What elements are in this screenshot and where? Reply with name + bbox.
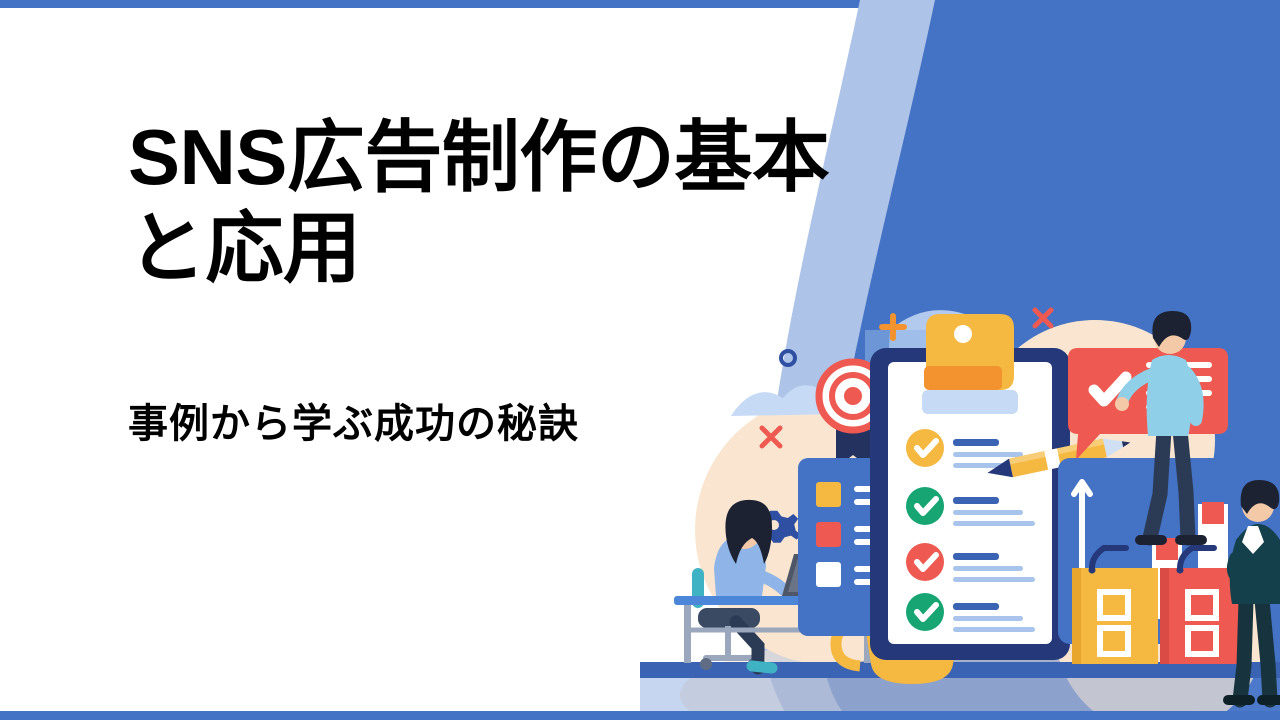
- check-circle-4: [906, 593, 944, 631]
- swatch-white: [816, 562, 841, 587]
- title-block: SNS広告制作の基本 と応用: [128, 112, 1008, 295]
- check-circle-1: [906, 429, 944, 467]
- circle-doodle: [781, 351, 795, 365]
- floor-strip: [640, 662, 1280, 678]
- check-circle-3: [906, 543, 944, 581]
- hero-illustration: [640, 300, 1280, 712]
- floor-shadow: [640, 678, 1280, 712]
- swatch-yellow: [816, 482, 841, 507]
- check-circle-2: [906, 487, 944, 525]
- slide-canvas: SNS広告制作の基本 と応用 事例から学ぶ成功の秘訣: [0, 0, 1280, 720]
- bottom-accent-bar: [0, 711, 1280, 720]
- page-subtitle: 事例から学ぶ成功の秘訣: [128, 398, 579, 450]
- clipboard-clip-shadow: [922, 390, 1018, 414]
- cross-doodle: [1035, 310, 1051, 326]
- clipboard: [870, 314, 1070, 660]
- page-title: SNS広告制作の基本 と応用: [128, 112, 1008, 295]
- chair-seat: [698, 608, 760, 628]
- swatch-red: [816, 522, 841, 547]
